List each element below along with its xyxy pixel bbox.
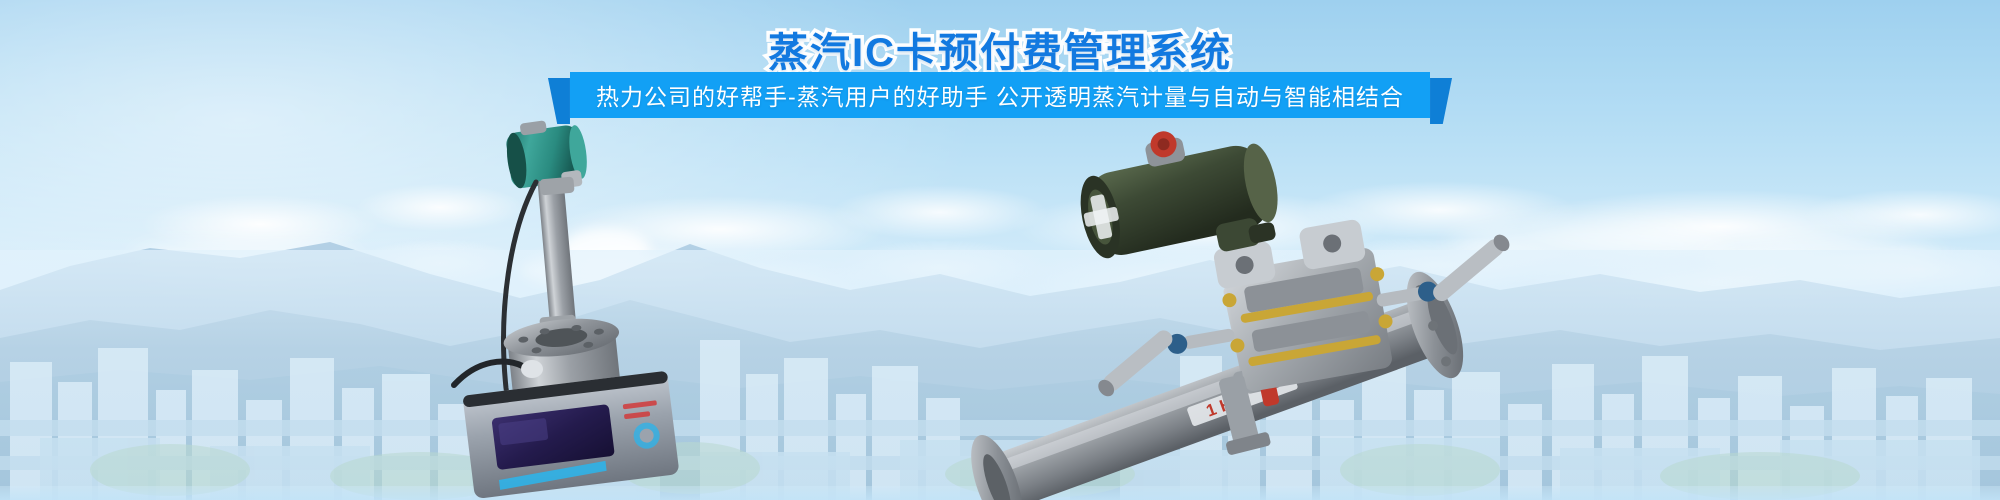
promo-banner: 1 H <box>0 0 2000 500</box>
ribbon-tail-left <box>548 78 570 124</box>
product-image-dp-transmitter-valve: 1 H <box>930 130 1550 500</box>
page-title: 蒸汽IC卡预付费管理系统 <box>0 20 2000 78</box>
subtitle-text: 热力公司的好帮手-蒸汽用户的好助手 公开透明蒸汽计量与自动与智能相结合 <box>570 72 1430 118</box>
subtitle-ribbon: 热力公司的好帮手-蒸汽用户的好助手 公开透明蒸汽计量与自动与智能相结合 <box>0 72 2000 124</box>
ribbon-tail-right <box>1430 78 1452 124</box>
product-image-ic-card-controller <box>450 325 690 500</box>
